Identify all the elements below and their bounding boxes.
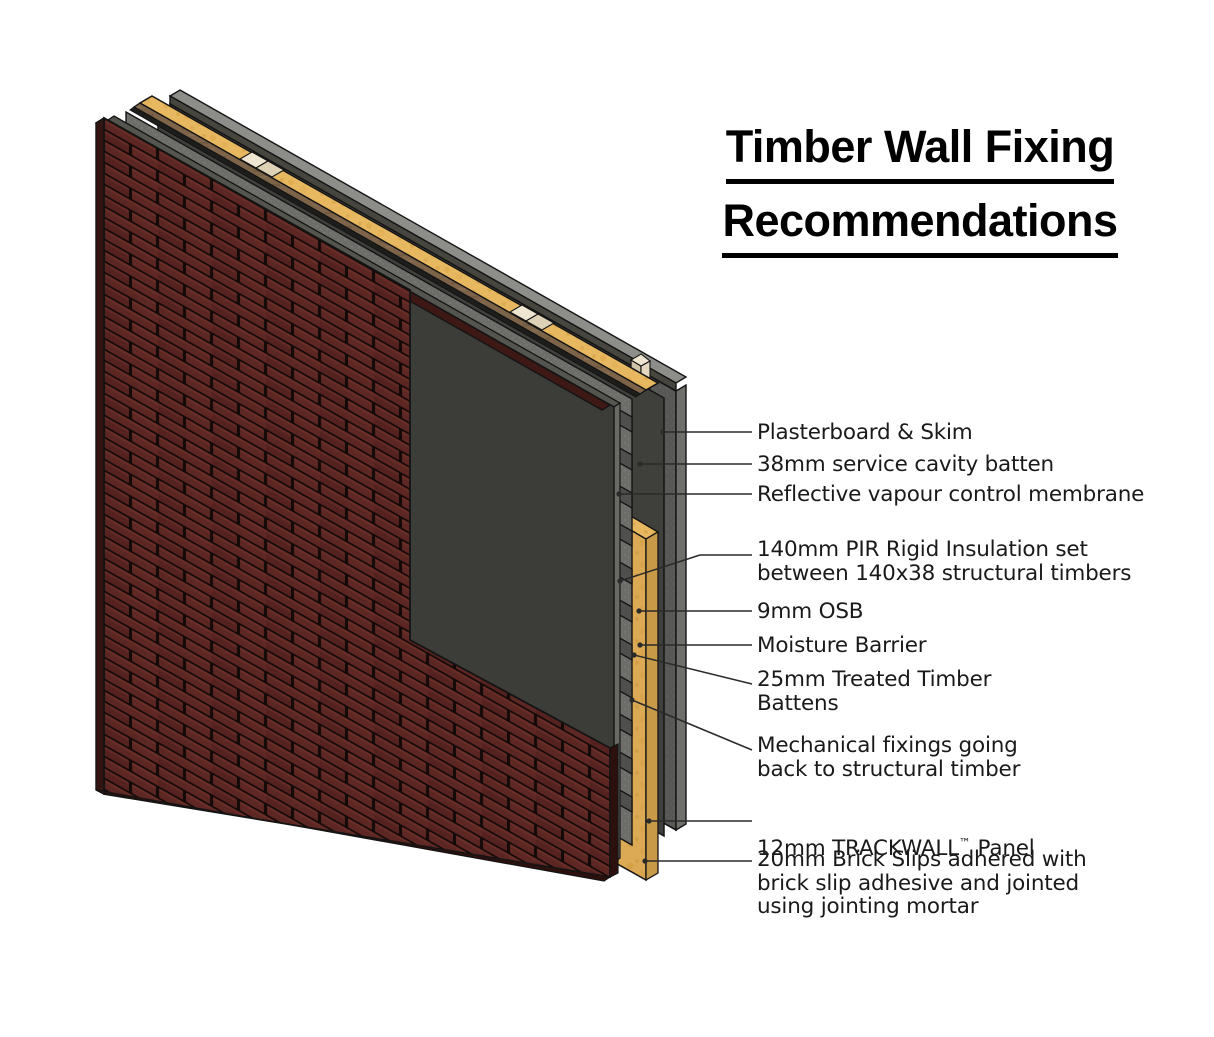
callout-service-cavity-batten: 38mm service cavity batten [757, 453, 1054, 477]
page-title: Timber Wall Fixing Recommendations [660, 116, 1180, 258]
callout-treated-timber-battens: 25mm Treated Timber Battens [757, 668, 991, 715]
callout-pir-insulation: 140mm PIR Rigid Insulation set between 1… [757, 538, 1131, 585]
wall-buildup-figure: Timber Wall Fixing Recommendations Plast… [0, 0, 1214, 1037]
callout-osb: 9mm OSB [757, 600, 863, 624]
callout-moisture-barrier: Moisture Barrier [757, 634, 926, 658]
callout-plasterboard: Plasterboard & Skim [757, 421, 973, 445]
title-line-1: Timber Wall Fixing [726, 116, 1115, 184]
callout-brick-slips: 20mm Brick Slips adhered with brick slip… [757, 848, 1087, 919]
callout-mechanical-fixings: Mechanical fixings going back to structu… [757, 734, 1020, 781]
title-line-2: Recommendations [722, 190, 1117, 258]
callout-vapour-control-membrane: Reflective vapour control membrane [757, 483, 1144, 507]
